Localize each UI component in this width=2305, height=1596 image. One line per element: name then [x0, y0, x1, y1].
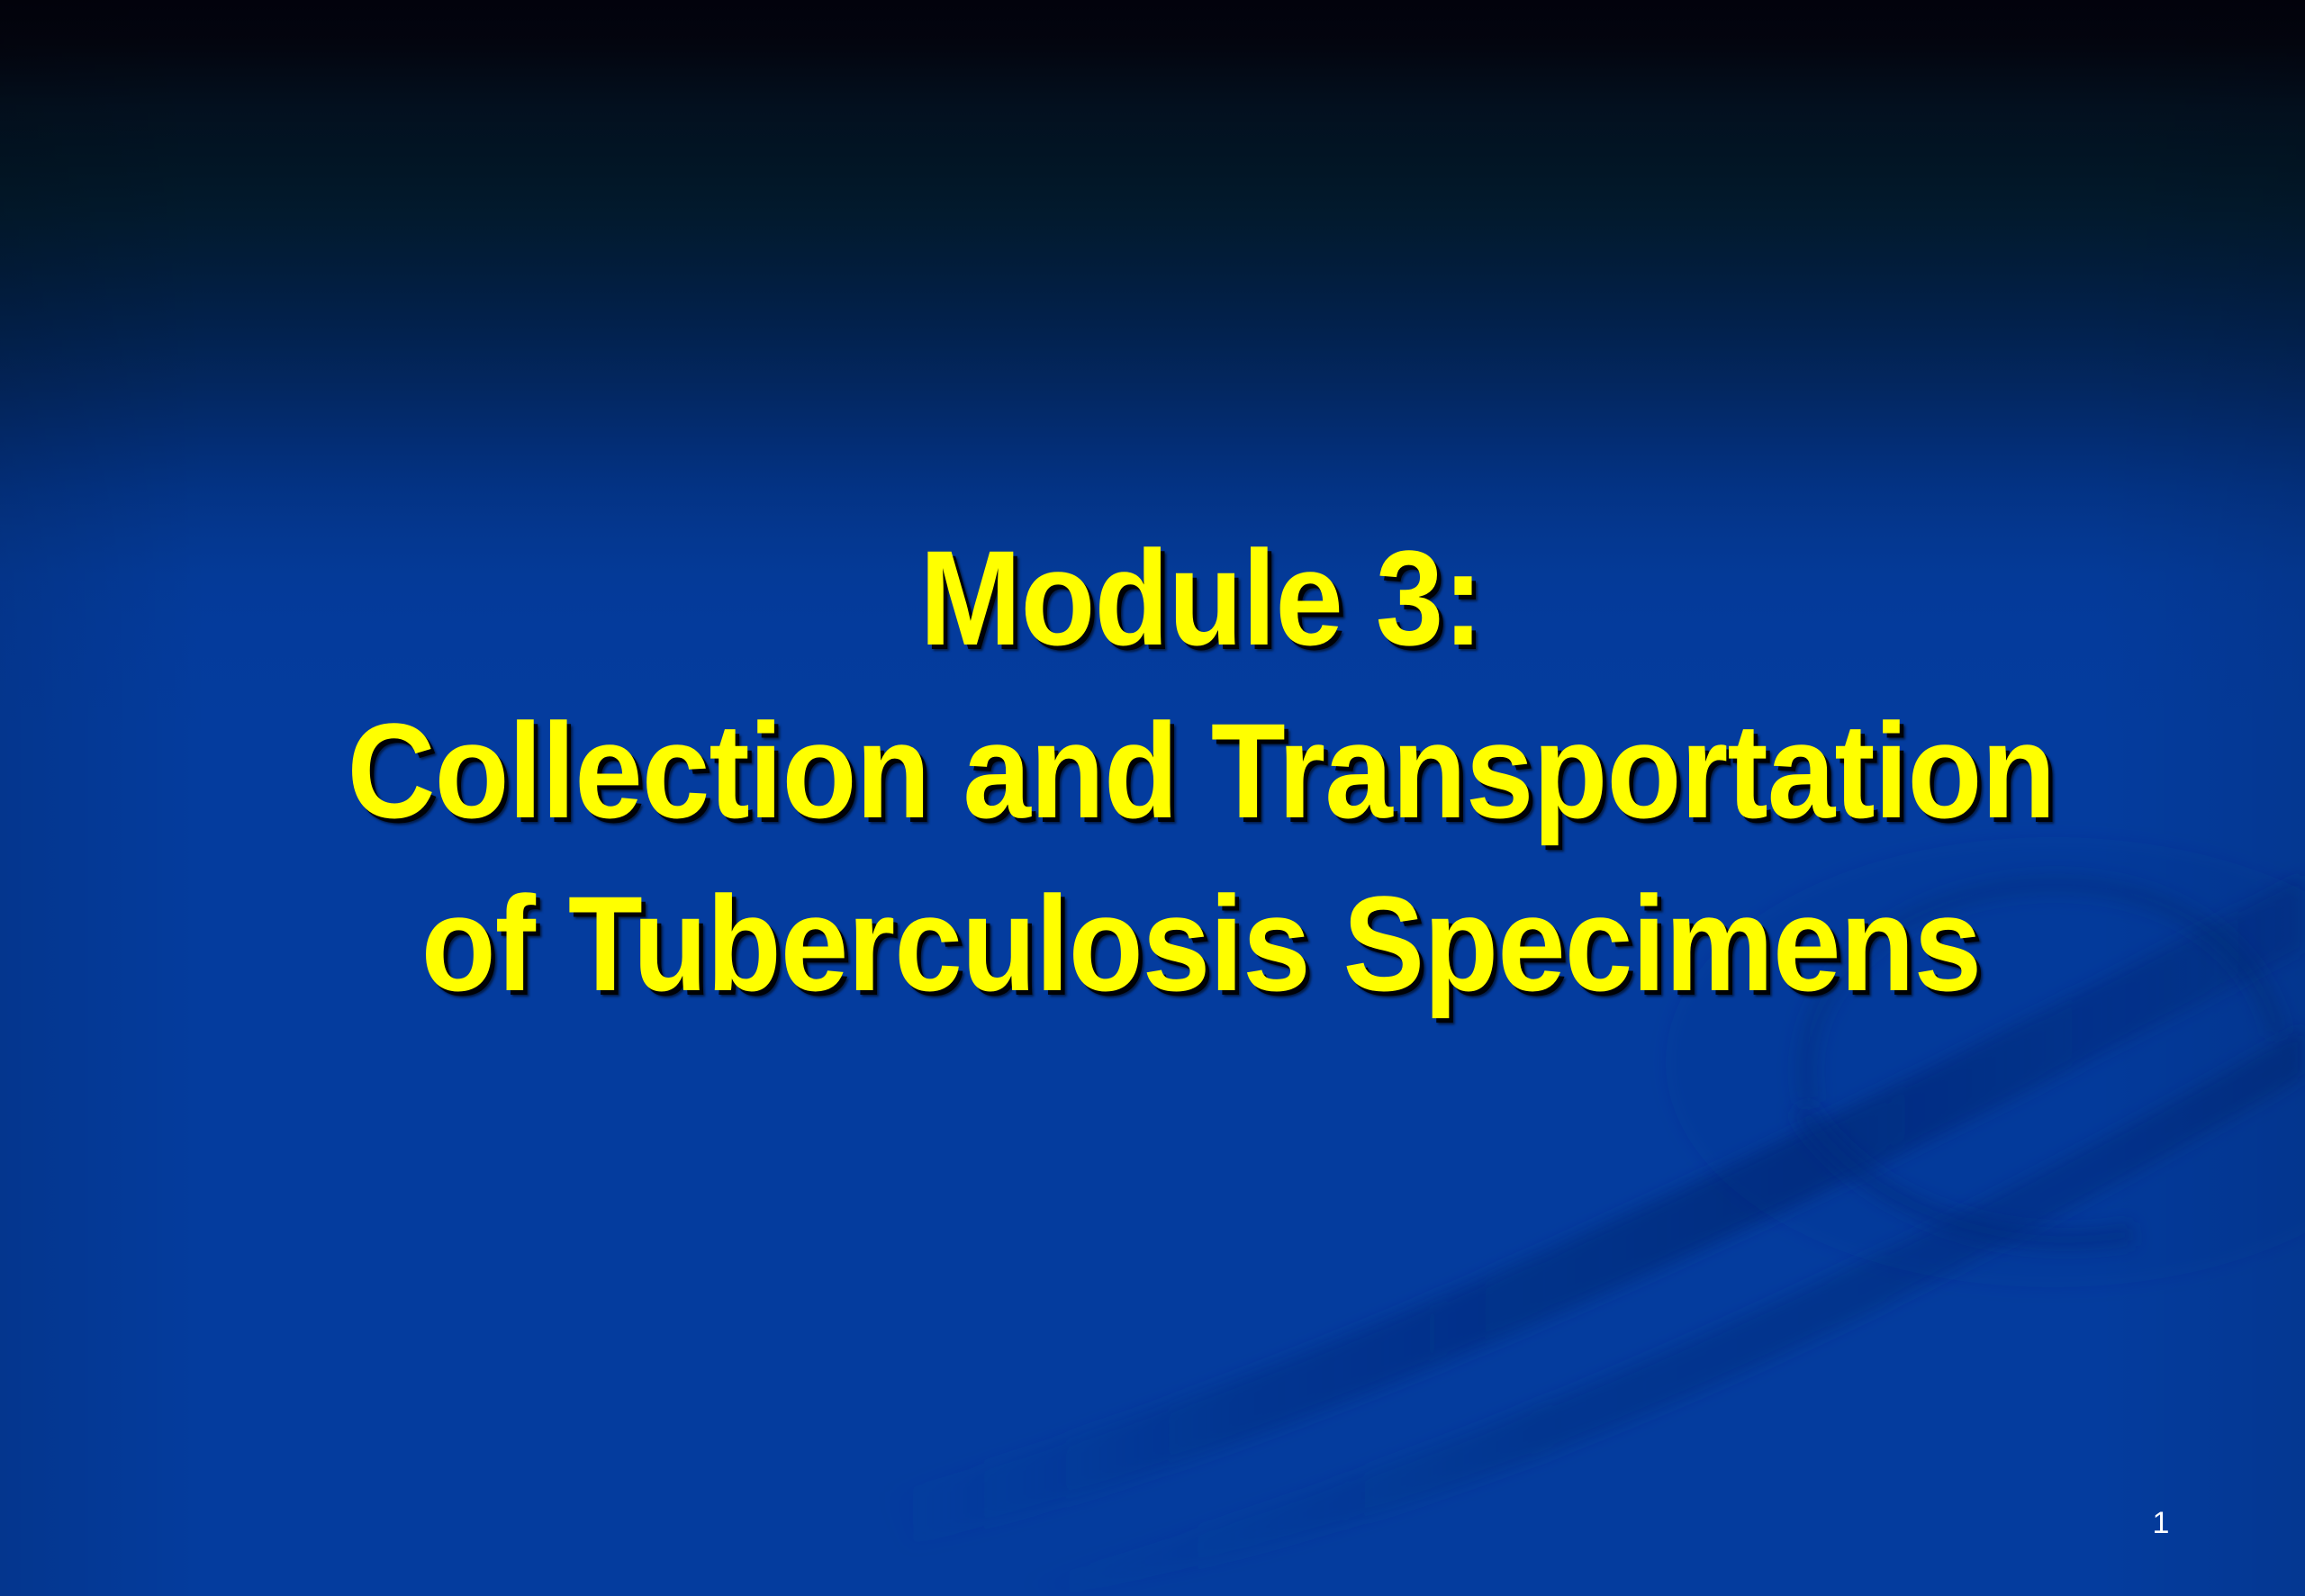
page-number: 1: [2134, 1505, 2188, 1541]
presentation-slide: Module 3: Collection and Transportation …: [0, 0, 2305, 1596]
title-line-2: Collection and Transportation: [202, 684, 2200, 857]
slide-title: Module 3: Collection and Transportation …: [0, 511, 2305, 1030]
title-line-3: of Tuberculosis Specimens: [202, 857, 2200, 1030]
title-line-1: Module 3:: [202, 511, 2200, 684]
